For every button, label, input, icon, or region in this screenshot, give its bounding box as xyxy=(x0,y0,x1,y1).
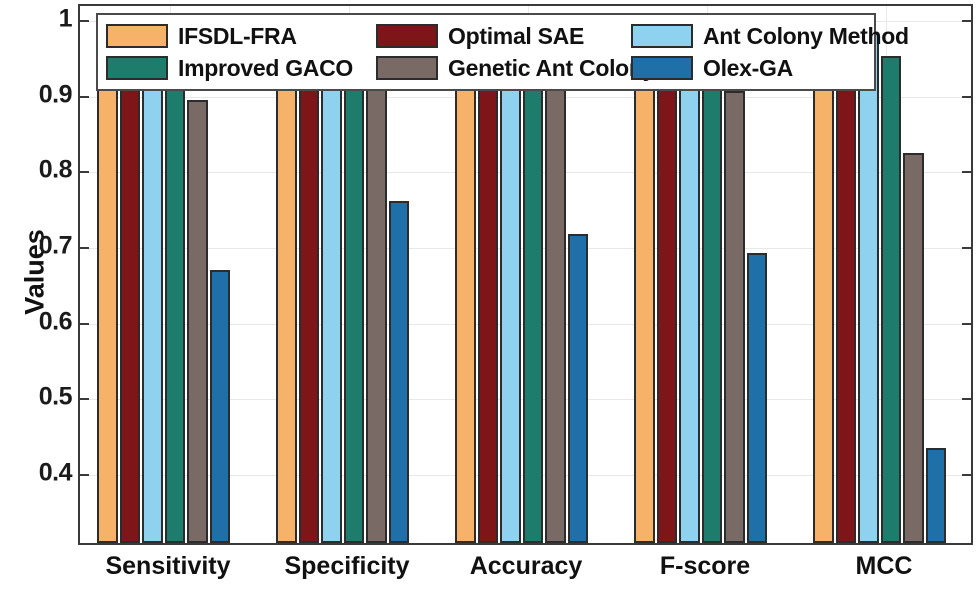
legend-item-label: Genetic Ant Colony xyxy=(448,55,655,82)
legend-swatch-icon xyxy=(631,56,693,80)
legend-item[interactable]: Olex-GA xyxy=(631,52,793,85)
legend: IFSDL-FRAOptimal SAEAnt Colony MethodImp… xyxy=(96,13,876,91)
y-axis-tick-label: 0.4 xyxy=(39,459,72,488)
bar xyxy=(142,19,163,543)
bar xyxy=(903,153,924,543)
x-axis-tick-labels: SensitivitySpecificityAccuracyF-scoreMCC xyxy=(78,552,973,597)
bar xyxy=(299,25,320,543)
y-axis-tick-label: 0.7 xyxy=(39,232,72,261)
figure-canvas: Values 0.40.50.60.70.80.91 SensitivitySp… xyxy=(0,0,980,602)
bar xyxy=(881,56,902,543)
legend-item-label: Olex-GA xyxy=(703,55,793,82)
bar xyxy=(120,18,141,543)
bar xyxy=(724,91,745,543)
x-axis-tick-label: MCC xyxy=(856,552,913,581)
bar xyxy=(523,34,544,543)
bar xyxy=(568,234,589,543)
legend-swatch-icon xyxy=(631,24,693,48)
bar xyxy=(210,270,231,543)
bar xyxy=(276,22,297,543)
bar xyxy=(478,25,499,543)
legend-row: IFSDL-FRAOptimal SAEAnt Colony Method xyxy=(106,20,866,52)
legend-item-label: Optimal SAE xyxy=(448,23,584,50)
y-axis-tick-labels: 0.40.50.60.70.80.91 xyxy=(0,4,72,545)
legend-item-label: Ant Colony Method xyxy=(703,23,909,50)
x-axis-tick-label: Specificity xyxy=(284,552,409,581)
legend-row: Improved GACOGenetic Ant ColonyOlex-GA xyxy=(106,52,866,84)
bar xyxy=(455,21,476,543)
legend-item[interactable]: Optimal SAE xyxy=(376,20,584,53)
bar xyxy=(366,69,387,543)
bar xyxy=(679,23,700,543)
bar xyxy=(545,81,566,543)
legend-swatch-icon xyxy=(376,24,438,48)
y-axis-tick-label: 0.5 xyxy=(39,383,72,412)
legend-item-label: IFSDL-FRA xyxy=(178,23,297,50)
y-axis-tick-label: 0.9 xyxy=(39,80,72,109)
bar xyxy=(926,448,947,543)
bar xyxy=(165,46,186,543)
x-axis-tick-label: F-score xyxy=(660,552,750,581)
bar xyxy=(747,253,768,543)
x-axis-tick-label: Accuracy xyxy=(470,552,583,581)
y-axis-tick-label: 0.6 xyxy=(39,307,72,336)
bar xyxy=(702,35,723,543)
bar xyxy=(97,17,118,543)
legend-swatch-icon xyxy=(376,56,438,80)
legend-item-label: Improved GACO xyxy=(178,55,353,82)
legend-item[interactable]: IFSDL-FRA xyxy=(106,20,297,53)
bar xyxy=(657,24,678,543)
legend-swatch-icon xyxy=(106,24,168,48)
bar xyxy=(813,23,834,543)
bar xyxy=(344,23,365,543)
legend-swatch-icon xyxy=(106,56,168,80)
legend-item[interactable]: Genetic Ant Colony xyxy=(376,52,655,85)
bar xyxy=(187,100,208,543)
bar xyxy=(389,201,410,543)
bar xyxy=(858,33,879,543)
bar xyxy=(836,25,857,543)
legend-item[interactable]: Ant Colony Method xyxy=(631,20,909,53)
bar xyxy=(500,25,521,543)
bar xyxy=(634,21,655,543)
y-axis-tick-label: 1 xyxy=(59,5,72,34)
legend-item[interactable]: Improved GACO xyxy=(106,52,353,85)
y-axis-tick-label: 0.8 xyxy=(39,156,72,185)
bar xyxy=(321,25,342,543)
x-axis-tick-label: Sensitivity xyxy=(105,552,230,581)
